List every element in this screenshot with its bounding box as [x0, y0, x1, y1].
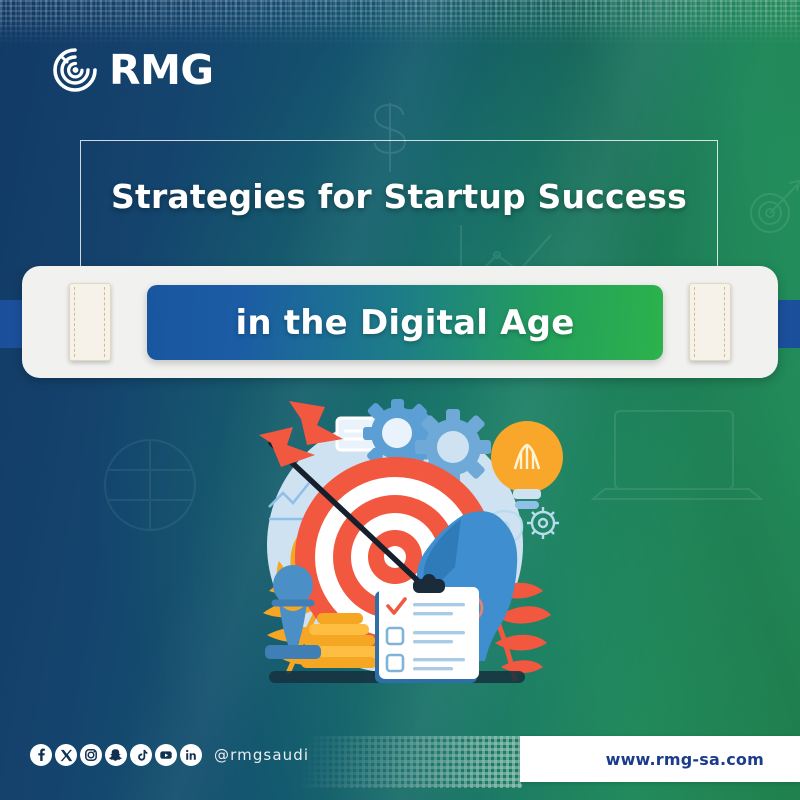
clipboard-checklist-icon — [375, 574, 479, 683]
snapchat-icon[interactable] — [105, 744, 127, 766]
headline-line-2: in the Digital Age — [236, 303, 575, 343]
top-pixel-pattern-fade — [0, 0, 800, 34]
social-handle: @rmgsaudi — [214, 746, 309, 764]
linkedin-icon[interactable] — [180, 744, 202, 766]
brand-logo-text: RMG — [109, 50, 214, 91]
poster-canvas: RMG Strategies for Startup Success in th… — [0, 0, 800, 800]
gear-outline-icon — [527, 507, 559, 539]
website-box[interactable]: www.rmg-sa.com — [520, 736, 800, 782]
clip-card-left — [69, 283, 111, 361]
watermark-laptop-icon — [585, 395, 770, 525]
startup-strategy-illustration — [245, 395, 575, 715]
headline-cta-banner[interactable]: in the Digital Age — [147, 285, 663, 360]
social-links[interactable]: @rmgsaudi — [30, 744, 309, 766]
watermark-target-icon — [745, 175, 800, 237]
facebook-icon[interactable] — [30, 744, 52, 766]
tiktok-icon[interactable] — [130, 744, 152, 766]
bottom-pixel-pattern — [290, 736, 522, 788]
youtube-icon[interactable] — [155, 744, 177, 766]
instagram-icon[interactable] — [80, 744, 102, 766]
watermark-graph-icon — [90, 430, 210, 540]
brand-logo[interactable]: RMG — [52, 47, 214, 93]
website-url: www.rmg-sa.com — [606, 750, 764, 769]
top-pixel-pattern — [0, 0, 800, 46]
headline-line-1: Strategies for Startup Success — [80, 177, 718, 216]
clip-card-right — [689, 283, 731, 361]
rmg-spiral-logo-icon — [52, 47, 98, 93]
x-twitter-icon[interactable] — [55, 744, 77, 766]
